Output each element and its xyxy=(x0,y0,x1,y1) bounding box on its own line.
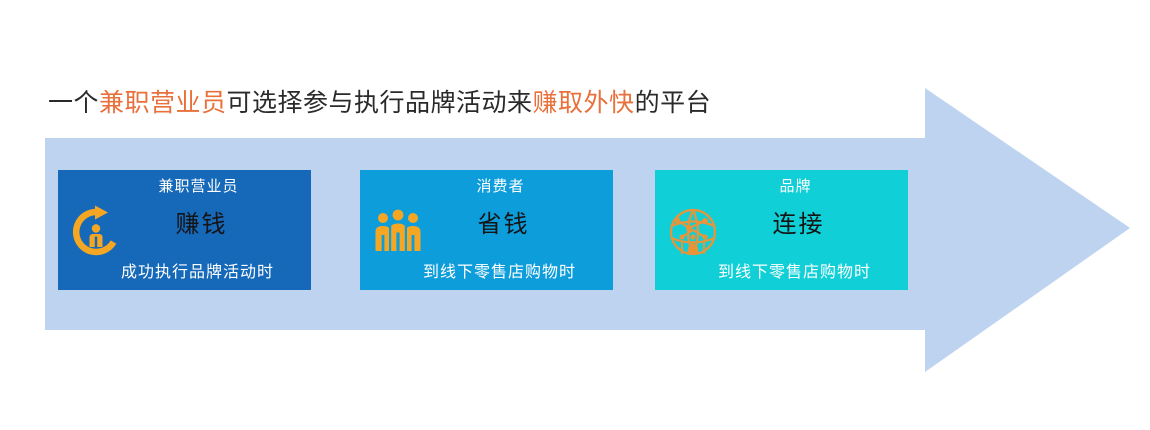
card-header-label: 消费者 xyxy=(360,177,613,197)
slide-canvas: 一个兼职营业员可选择参与执行品牌活动来赚取外快的平台 兼职营业员 赚钱 成功执行… xyxy=(0,0,1150,430)
card-header-label: 兼职营业员 xyxy=(58,177,311,197)
value-card-brand[interactable]: 品牌 连接 到线下零售店购物时 xyxy=(655,170,908,290)
page-title: 一个兼职营业员可选择参与执行品牌活动来赚取外快的平台 xyxy=(48,86,1048,120)
card-header-label: 品牌 xyxy=(655,177,908,197)
card-footer-label: 到线下零售店购物时 xyxy=(360,262,613,284)
value-card-consumer[interactable]: 消费者 省钱 到线下零售店购物时 xyxy=(360,170,613,290)
value-card-worker[interactable]: 兼职营业员 赚钱 成功执行品牌活动时 xyxy=(58,170,311,290)
title-plain-text: 一个 xyxy=(48,89,99,117)
card-main-label: 省钱 xyxy=(360,208,613,242)
card-main-label: 赚钱 xyxy=(58,208,311,242)
title-plain-text: 的平台 xyxy=(635,89,712,117)
title-accent-text: 兼职营业员 xyxy=(99,89,227,117)
card-main-label: 连接 xyxy=(655,208,908,242)
title-accent-text: 赚取外快 xyxy=(533,89,635,117)
card-row: 兼职营业员 赚钱 成功执行品牌活动时 xyxy=(58,170,908,290)
card-footer-label: 成功执行品牌活动时 xyxy=(58,262,311,284)
card-footer-label: 到线下零售店购物时 xyxy=(655,262,908,284)
title-plain-text: 可选择参与执行品牌活动来 xyxy=(227,89,533,117)
